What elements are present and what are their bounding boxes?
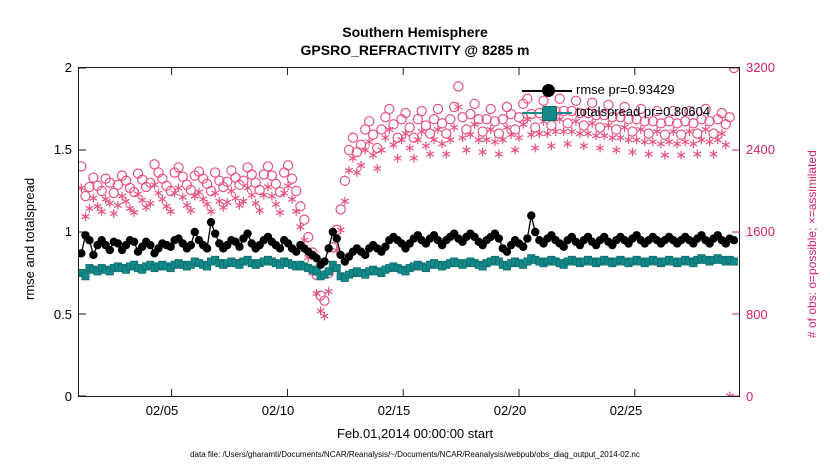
y-tick-label-left-1: 1.5	[26, 142, 72, 157]
y-axis-title-right: # of obs: o=possible; ×=assimilated	[805, 150, 819, 338]
chart-title-line1: Southern Hemisphere	[0, 24, 830, 40]
y-tick-label-right-1: 2400	[746, 142, 796, 157]
x-tick-label-0: 02/05	[127, 403, 197, 418]
y-tick-label-right-4: 0	[746, 389, 796, 404]
x-tick-label-1: 02/10	[243, 403, 313, 418]
chart-page: Southern Hemisphere GPSRO_REFRACTIVITY @…	[0, 0, 830, 470]
legend-marker-square-icon	[542, 106, 557, 121]
legend-label-totalspread: totalspread pr=0.80604	[576, 104, 710, 119]
y-tick-label-right-0: 3200	[746, 60, 796, 75]
x-tick-label-4: 02/25	[591, 403, 661, 418]
y-tick-label-right-2: 1600	[746, 224, 796, 239]
y-tick-label-right-3: 800	[746, 307, 796, 322]
legend-marker-circle-icon	[542, 84, 555, 97]
y-tick-label-left-4: 0	[26, 389, 72, 404]
x-tick-label-2: 02/15	[359, 403, 429, 418]
legend: rmse pr=0.93429 totalspread pr=0.80604	[520, 80, 735, 124]
legend-item-rmse[interactable]: rmse pr=0.93429	[520, 80, 735, 102]
x-tick-label-3: 02/20	[475, 403, 545, 418]
y-tick-label-left-0: 2	[26, 60, 72, 75]
legend-label-rmse: rmse pr=0.93429	[576, 82, 675, 97]
y-tick-label-left-3: 0.5	[26, 307, 72, 322]
y-axis-title-left: rmse and totalspread	[22, 178, 37, 300]
chart-title-line2: GPSRO_REFRACTIVITY @ 8285 m	[0, 42, 830, 58]
x-axis-title: Feb.01,2014 00:00:00 start	[0, 426, 830, 441]
data-file-caption: data file: /Users/gharamti/Documents/NCA…	[0, 450, 830, 459]
legend-item-totalspread[interactable]: totalspread pr=0.80604	[520, 102, 735, 124]
